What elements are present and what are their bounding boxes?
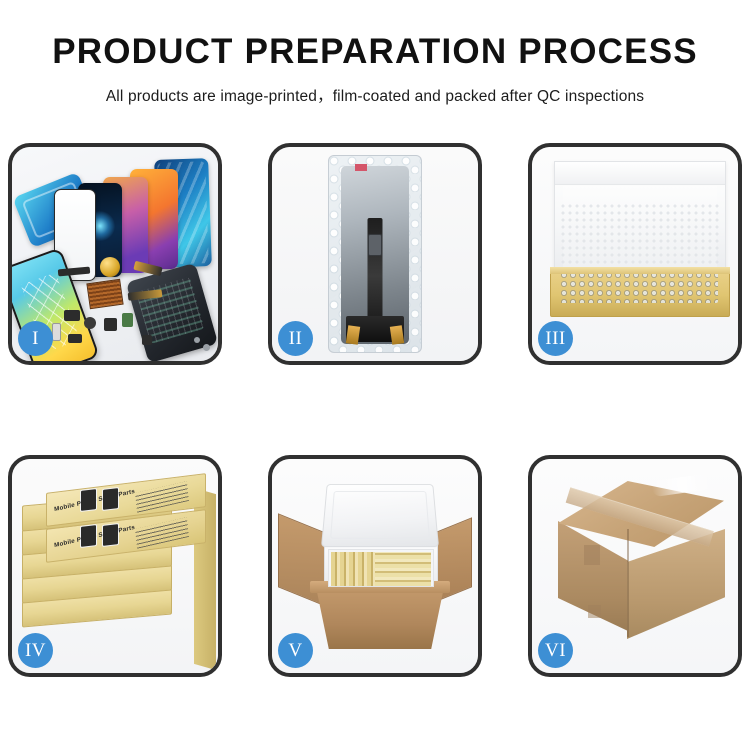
step-panel-3[interactable]: III [528,143,742,365]
gold-contact-icon [346,325,360,344]
carton-marking [584,545,600,565]
bubble-wrap-bag-icon [328,155,422,353]
step-panel-2[interactable]: II [268,143,482,365]
step-badge-2: II [278,321,313,356]
step-badge-3: III [538,321,573,356]
screw-icon [203,344,210,351]
small-part-icon [64,310,80,321]
small-part-icon [104,318,117,331]
battery-part-icon [122,313,133,327]
step-badge-4: IV [18,633,53,668]
box-stack-icon: Mobile Phone Spare Parts Mobile Phone Sp… [18,477,218,663]
step-panel-4[interactable]: Mobile Phone Spare Parts Mobile Phone Sp… [8,455,222,677]
carton-body-icon [316,587,444,649]
connector-chip-icon [86,279,123,309]
step-badge-5: V [278,633,313,668]
gold-contact-icon [390,325,404,344]
small-part-icon [142,335,152,345]
carton-marking [588,605,601,618]
bubble-wrapped-product-icon [560,271,718,303]
process-steps-grid: I II [8,143,742,677]
step-panel-1[interactable]: I [8,143,222,365]
page-subtitle: All products are image-printed，film-coat… [0,84,750,106]
step-panel-6[interactable]: VI [528,455,742,677]
foam-lid-icon [321,484,439,547]
tray-lip [550,267,730,274]
small-part-icon [68,334,82,343]
sim-tray-icon [52,323,61,341]
vibration-motor-icon [100,257,120,277]
page-header: PRODUCT PREPARATION PROCESS All products… [0,0,750,106]
step-badge-1: I [18,321,53,356]
driver-ic-icon [368,234,382,256]
screw-icon [194,337,200,343]
qc-sticker-icon [355,164,367,171]
carton-seam [627,529,629,637]
small-part-icon [84,317,96,329]
page-title: PRODUCT PREPARATION PROCESS [0,34,750,71]
step-badge-6: VI [538,633,573,668]
step-panel-5[interactable]: V [268,455,482,677]
packed-boxes-icon [328,549,434,587]
product-preparation-process-page: PRODUCT PREPARATION PROCESS All products… [0,0,750,750]
